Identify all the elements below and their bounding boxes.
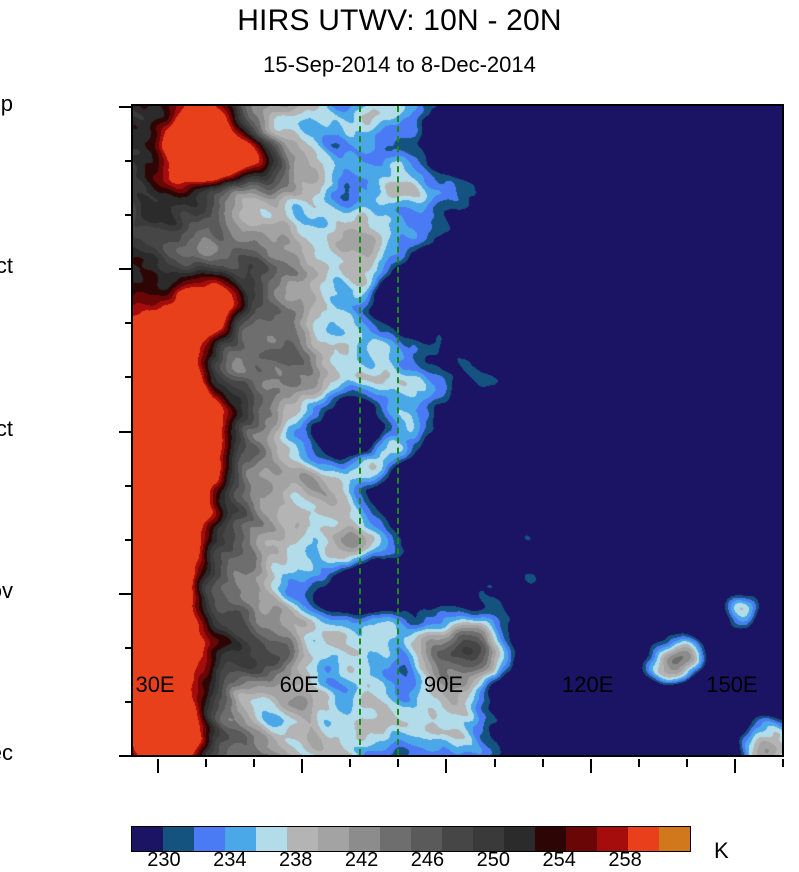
y-axis-label-0: 15-Sep — [0, 91, 13, 117]
colorbar-cell-sky-blue[interactable] — [225, 827, 256, 851]
x-minor-tick — [494, 759, 496, 767]
y-minor-tick — [125, 701, 133, 703]
colorbar-cell-gray-5[interactable] — [411, 827, 442, 851]
colorbar-cell-red[interactable] — [597, 827, 628, 851]
reference-vline-0 — [359, 106, 361, 755]
y-axis-label-1: 6-Oct — [0, 253, 13, 279]
y-major-tick — [119, 106, 133, 108]
colorbar-cell-gray-3[interactable] — [349, 827, 380, 851]
x-major-tick — [590, 759, 592, 773]
x-minor-tick — [205, 759, 207, 767]
colorbar-cell-orange[interactable] — [659, 827, 690, 851]
colorbar-cell-steel-blue[interactable] — [163, 827, 194, 851]
y-minor-tick — [125, 376, 133, 378]
y-minor-tick — [125, 647, 133, 649]
y-minor-tick — [125, 322, 133, 324]
colorbar-unit-label: K — [714, 838, 729, 864]
x-major-tick — [734, 759, 736, 773]
y-axis-label-4: 8-Dec — [0, 740, 13, 766]
y-axis-label-3: 17-Nov — [0, 578, 13, 604]
x-minor-tick — [542, 759, 544, 767]
x-major-tick — [301, 759, 303, 773]
x-major-tick — [157, 759, 159, 773]
hovmoller-plot-area — [131, 104, 784, 757]
page-subtitle: 15-Sep-2014 to 8-Dec-2014 — [0, 52, 799, 78]
colorbar-cell-dark-navy[interactable] — [132, 827, 163, 851]
y-minor-tick — [125, 160, 133, 162]
y-axis-label-2: 27-Oct — [0, 416, 13, 442]
reference-vline-1 — [397, 106, 399, 755]
y-minor-tick — [125, 539, 133, 541]
colorbar-cell-dark-gray-7[interactable] — [473, 827, 504, 851]
x-minor-tick — [397, 759, 399, 767]
colorbar-cell-dark-red[interactable] — [566, 827, 597, 851]
y-major-tick — [119, 755, 133, 757]
x-axis-label-3: 120E — [562, 672, 613, 698]
x-minor-tick — [253, 759, 255, 767]
colorbar-cell-very-dark-red[interactable] — [535, 827, 566, 851]
colorbar-cell-pale-blue[interactable] — [256, 827, 287, 851]
y-minor-tick — [125, 485, 133, 487]
x-minor-tick — [686, 759, 688, 767]
x-minor-tick — [782, 759, 784, 767]
x-minor-tick — [349, 759, 351, 767]
y-major-tick — [119, 431, 133, 433]
x-major-tick — [445, 759, 447, 773]
contour-field — [133, 106, 782, 755]
x-axis-label-0: 30E — [135, 672, 174, 698]
x-axis-label-2: 90E — [424, 672, 463, 698]
colorbar-cell-near-black[interactable] — [504, 827, 535, 851]
colorbar-cell-royal-blue[interactable] — [194, 827, 225, 851]
colorbar-cell-red-orange[interactable] — [628, 827, 659, 851]
x-minor-tick — [638, 759, 640, 767]
colorbar-cell-light-gray-1[interactable] — [287, 827, 318, 851]
y-minor-tick — [125, 214, 133, 216]
x-axis-label-1: 60E — [280, 672, 319, 698]
y-major-tick — [119, 268, 133, 270]
page-title: HIRS UTWV: 10N - 20N — [0, 4, 799, 38]
colorbar-cell-light-gray-2[interactable] — [318, 827, 349, 851]
y-major-tick — [119, 593, 133, 595]
colorbar-cell-dark-gray-6[interactable] — [442, 827, 473, 851]
x-axis-label-4: 150E — [706, 672, 757, 698]
colorbar-cell-gray-4[interactable] — [380, 827, 411, 851]
